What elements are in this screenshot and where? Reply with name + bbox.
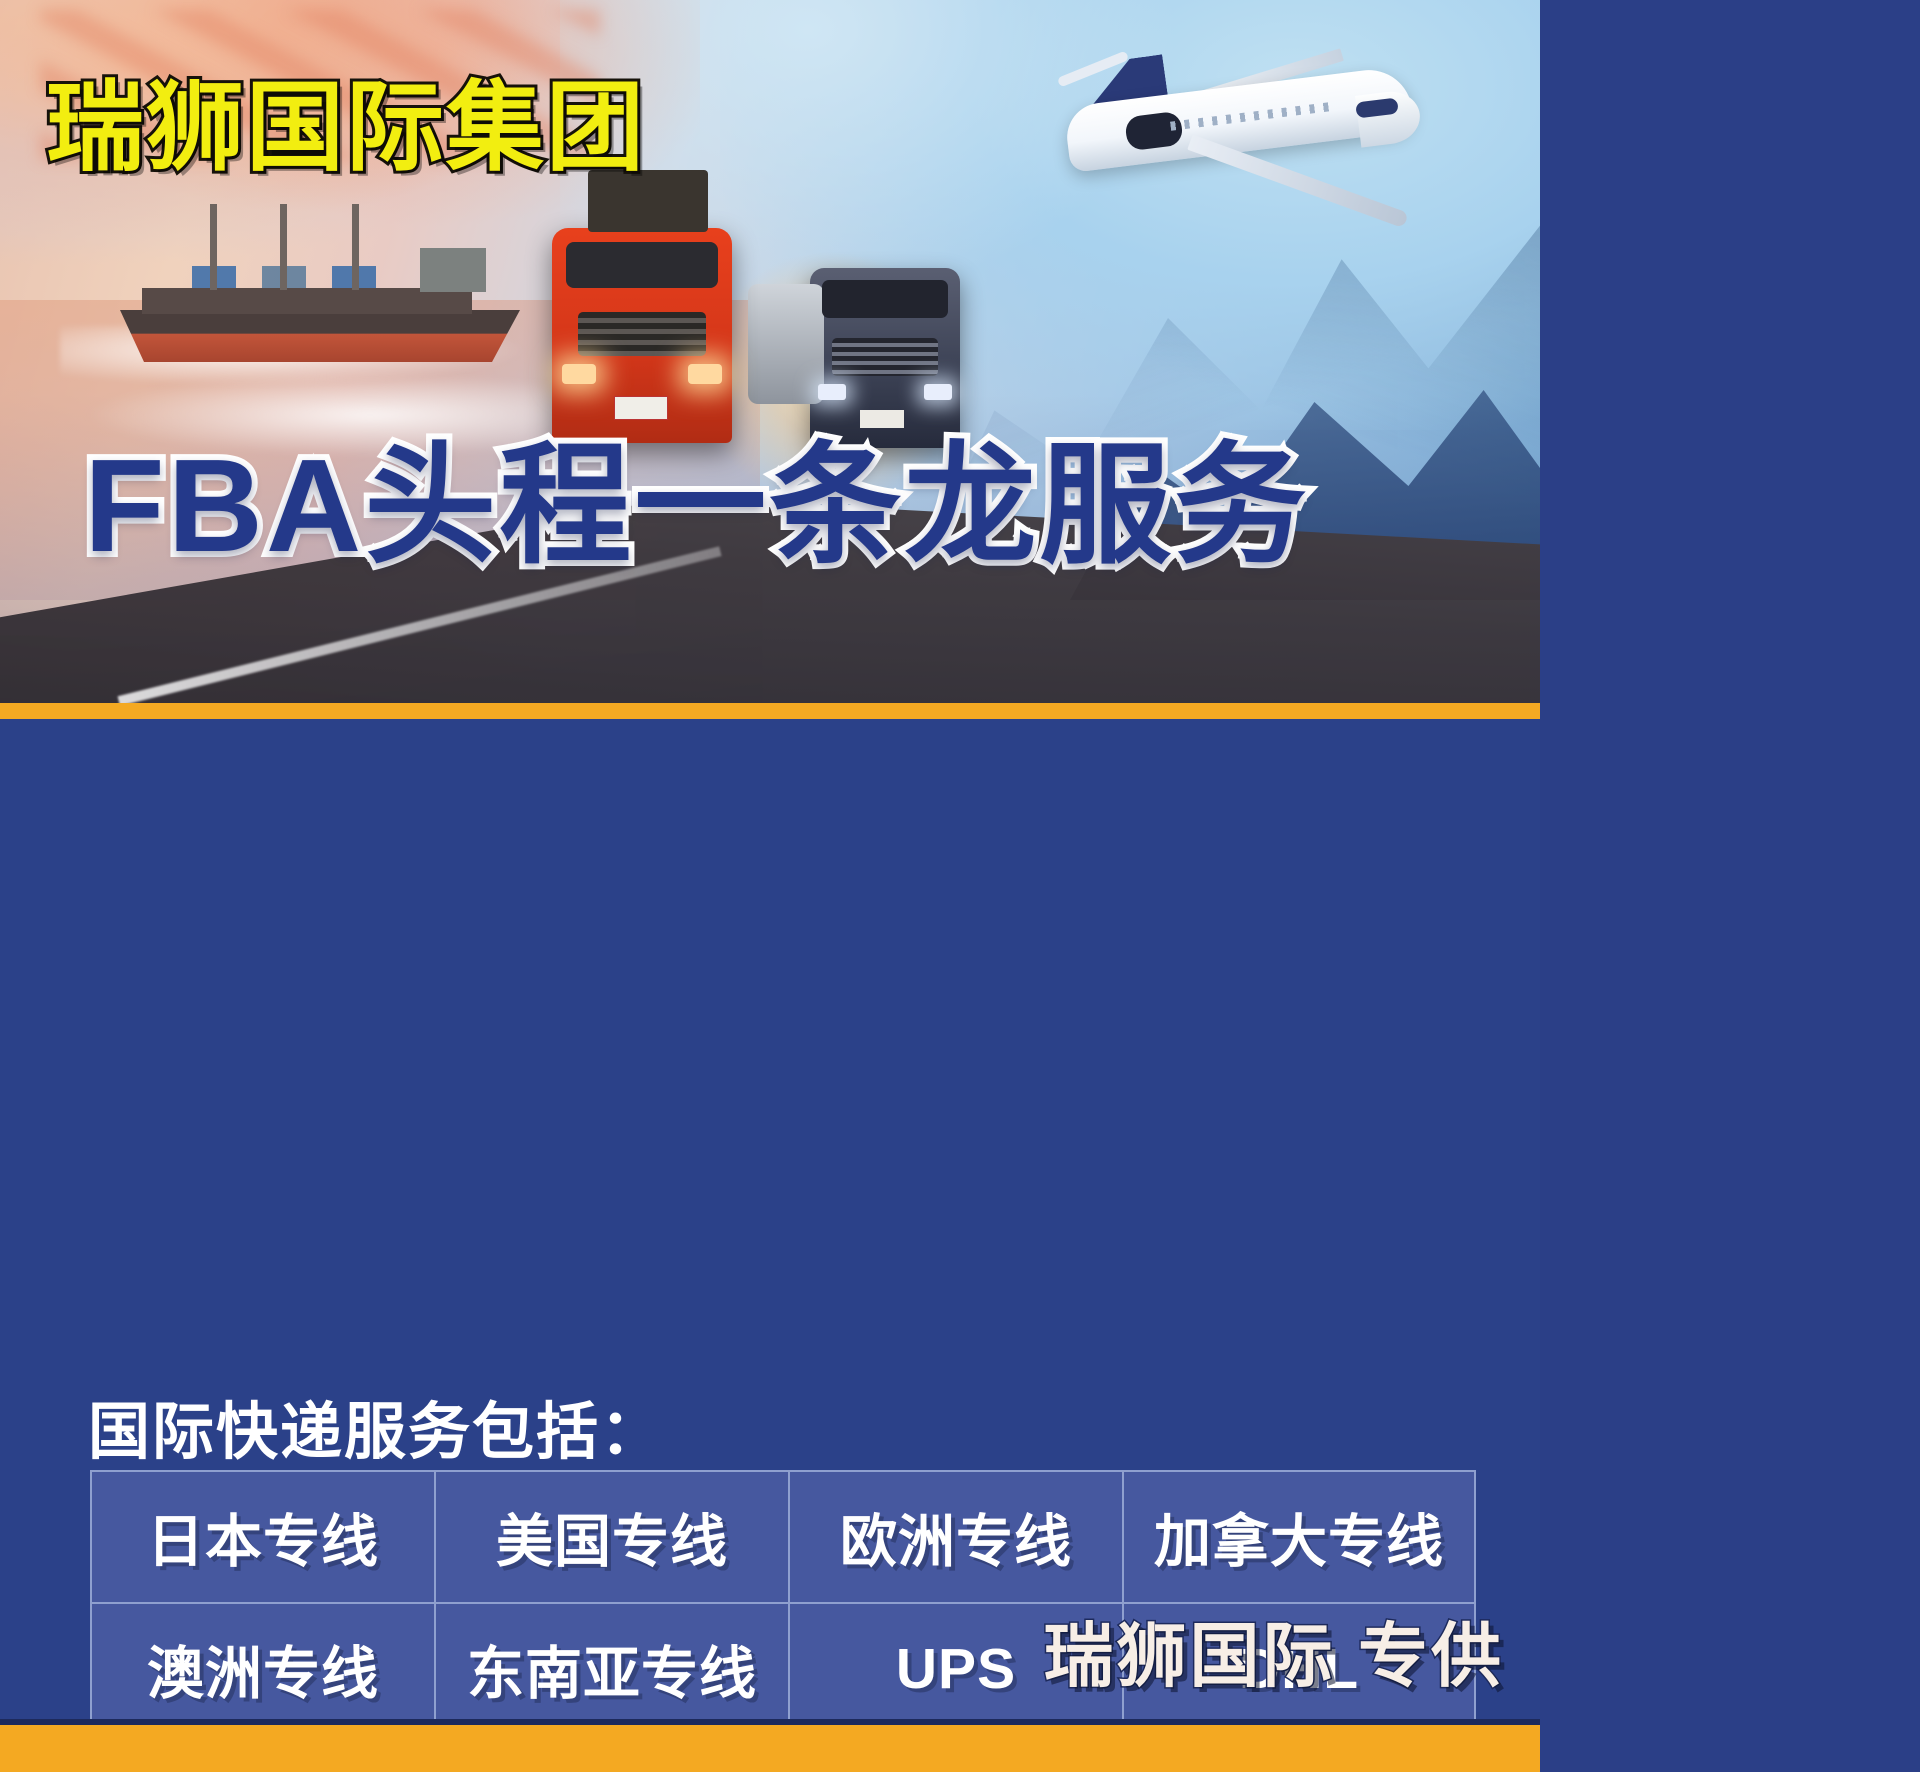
truck-headlight (688, 364, 722, 384)
plane-nose (1355, 88, 1423, 147)
truck-windshield (566, 242, 718, 288)
cargo-ship-icon (120, 230, 540, 380)
truck-license-plate (860, 410, 904, 428)
ship-crane (352, 204, 359, 290)
ship-hull (120, 310, 520, 362)
hero-headline: FBA头程一条龙服务 (84, 440, 1309, 572)
truck-headlight (562, 364, 596, 384)
truck-windshield (822, 280, 948, 318)
table-cell-usa[interactable]: 美国专线 (435, 1471, 789, 1603)
truck-grille (832, 338, 938, 376)
red-truck-icon (552, 228, 732, 443)
poster-root: 瑞狮国际集团 FBA头程一条龙服务 国际快递服务包括： 日本专线 美国专线 欧洲… (0, 0, 1540, 1772)
truck-grille (578, 312, 706, 356)
table-cell-europe[interactable]: 欧洲专线 (789, 1471, 1123, 1603)
table-cell-japan[interactable]: 日本专线 (91, 1471, 435, 1603)
blue-truck-icon (810, 268, 960, 448)
truck-tank-trailer (748, 284, 824, 404)
ship-crane (210, 204, 217, 290)
truck-license-plate (614, 396, 668, 420)
truck-headlight (924, 384, 952, 400)
airplane-icon (1040, 30, 1430, 210)
table-cell-canada[interactable]: 加拿大专线 (1123, 1471, 1475, 1603)
company-logo-text: 瑞狮国际集团 (46, 78, 646, 176)
table-row: 日本专线 美国专线 欧洲专线 加拿大专线 (91, 1471, 1475, 1603)
truck-headlight (818, 384, 846, 400)
table-cell-australia[interactable]: 澳洲专线 (91, 1603, 435, 1735)
bottom-accent-bar (0, 1725, 1540, 1772)
section-title: 国际快递服务包括： (88, 1381, 664, 1471)
ship-bridge-tower (420, 248, 486, 292)
info-panel: 国际快递服务包括： 日本专线 美国专线 欧洲专线 加拿大专线 澳洲专线 东南亚专… (0, 719, 1540, 1725)
table-cell-southeast-asia[interactable]: 东南亚专线 (435, 1603, 789, 1735)
hero-image: 瑞狮国际集团 FBA头程一条龙服务 (0, 0, 1540, 716)
gold-divider-bar (0, 703, 1540, 719)
ship-crane (280, 204, 287, 290)
footer-signature: 瑞狮国际 专供 (1044, 1600, 1504, 1701)
